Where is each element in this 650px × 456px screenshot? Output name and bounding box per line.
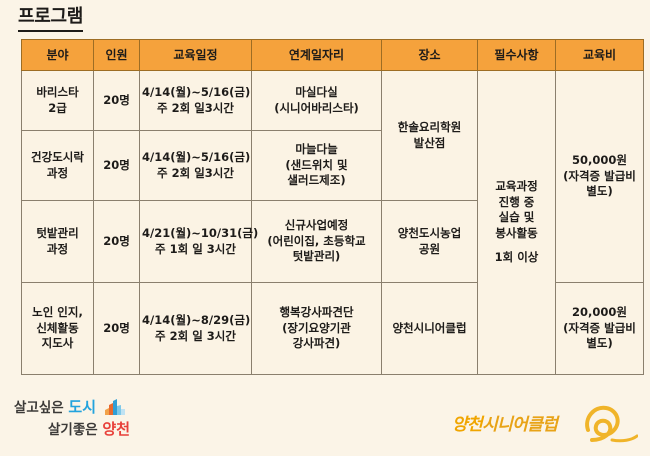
job-line-1: 행복강사파견단	[254, 305, 379, 321]
logo-left-line-1: 살고싶은 도시	[14, 398, 130, 420]
field-line-1: 건강도시락	[24, 150, 91, 166]
table-row: 바리스타 2급 20명 4/14(월)~5/16(금) 주 2회 일3시간 마실…	[22, 71, 644, 131]
requirement-line-4: 봉사활동	[480, 226, 553, 242]
schedule-line-2: 주 2회 일3시간	[142, 166, 249, 182]
cell-field: 노인 인지, 신체활동 지도사	[22, 283, 94, 375]
schedule-line-1: 4/21(월)~10/31(금)	[142, 226, 249, 242]
yangcheon-city-logo: 살고싶은 도시 살기좋은 양천	[14, 398, 130, 439]
column-header-requirement: 필수사항	[478, 40, 556, 71]
job-line-2: (샌드위치 및	[254, 158, 379, 174]
footer: 살고싶은 도시 살기좋은 양천 양천시니어클럽	[0, 392, 650, 456]
job-line-3: 텃밭관리)	[254, 249, 379, 265]
field-line-2: 과정	[24, 242, 91, 258]
fee-line-3: 별도)	[558, 336, 641, 352]
place-line-1: 한솔요리학원	[384, 120, 475, 136]
requirement-spacer	[480, 241, 553, 250]
cell-linked-job: 마늘다늘 (샌드위치 및 샐러드제조)	[252, 131, 382, 201]
cell-field: 텃밭관리 과정	[22, 201, 94, 283]
fee-line-1: 50,000원	[558, 153, 641, 169]
logo-right-brand: 양천시니어클럽	[452, 410, 557, 435]
table-header-row: 분야 인원 교육일정 연계일자리 장소 필수사항 교육비	[22, 40, 644, 71]
page-title: 프로그램	[18, 6, 83, 32]
table-header: 분야 인원 교육일정 연계일자리 장소 필수사항 교육비	[22, 40, 644, 71]
schedule-line-2: 주 1회 일 3시간	[142, 242, 249, 258]
column-header-count: 인원	[94, 40, 140, 71]
cell-schedule: 4/14(월)~5/16(금) 주 2회 일3시간	[140, 131, 252, 201]
cell-count: 20명	[94, 283, 140, 375]
logo-right-text-a: 양천	[452, 415, 482, 435]
requirement-line-5: 1회 이상	[480, 250, 553, 266]
yangcheon-senior-club-logo: 양천시니어클럽	[452, 400, 638, 446]
field-line-2: 과정	[24, 166, 91, 182]
cell-schedule: 4/14(월)~5/16(금) 주 2회 일3시간	[140, 71, 252, 131]
column-header-place: 장소	[382, 40, 478, 71]
schedule-line-1: 4/14(월)~5/16(금)	[142, 150, 249, 166]
job-line-2: (장기요양기관	[254, 321, 379, 337]
program-table-wrap: 분야 인원 교육일정 연계일자리 장소 필수사항 교육비 바리스타 2급 20명	[21, 39, 629, 375]
requirement-line-2: 진행 중	[480, 195, 553, 211]
logo-left-text-c: 살기좋은	[48, 422, 98, 438]
requirement-line-1: 교육과정	[480, 179, 553, 195]
requirement-line-3: 실습 및	[480, 210, 553, 226]
building-skyline-icon	[104, 399, 126, 420]
job-line-2: (시니어바리스타)	[254, 101, 379, 117]
cell-linked-job: 행복강사파견단 (장기요양기관 강사파견)	[252, 283, 382, 375]
fee-line-2: (자격증 발급비	[558, 321, 641, 337]
cell-linked-job: 마실다실 (시니어바리스타)	[252, 71, 382, 131]
place-line-2: 공원	[384, 242, 475, 258]
column-header-linked-job: 연계일자리	[252, 40, 382, 71]
logo-left-text-a: 살고싶은	[14, 400, 64, 416]
job-line-1: 마늘다늘	[254, 142, 379, 158]
job-line-3: 샐러드제조)	[254, 173, 379, 189]
cell-schedule: 4/21(월)~10/31(금) 주 1회 일 3시간	[140, 201, 252, 283]
field-line-1: 텃밭관리	[24, 226, 91, 242]
page-title-wrap: 프로그램	[18, 6, 83, 32]
cell-count: 20명	[94, 71, 140, 131]
schedule-line-2: 주 2회 일3시간	[142, 101, 249, 117]
field-line-2: 2급	[24, 101, 91, 117]
cell-requirement-merged: 교육과정 진행 중 실습 및 봉사활동 1회 이상	[478, 71, 556, 375]
cell-place-merged-1-2: 한솔요리학원 발산점	[382, 71, 478, 201]
cell-count: 20명	[94, 131, 140, 201]
program-table: 분야 인원 교육일정 연계일자리 장소 필수사항 교육비 바리스타 2급 20명	[21, 39, 644, 375]
cell-count: 20명	[94, 201, 140, 283]
column-header-fee: 교육비	[556, 40, 644, 71]
cell-field: 바리스타 2급	[22, 71, 94, 131]
place-line-1: 양천시니어클럽	[384, 321, 475, 337]
field-line-3: 지도사	[24, 336, 91, 352]
cell-place: 양천시니어클럽	[382, 283, 478, 375]
schedule-line-1: 4/14(월)~8/29(금)	[142, 313, 249, 329]
cell-schedule: 4/14(월)~8/29(금) 주 2회 일 3시간	[140, 283, 252, 375]
column-header-schedule: 교육일정	[140, 40, 252, 71]
swirl-ribbon-icon	[582, 400, 638, 450]
job-line-1: 마실다실	[254, 85, 379, 101]
program-poster: 프로그램 분야 인원 교육일정 연계일자리 장소 필수사항 교육비	[0, 0, 650, 456]
place-line-1: 양천도시농업	[384, 226, 475, 242]
table-body: 바리스타 2급 20명 4/14(월)~5/16(금) 주 2회 일3시간 마실…	[22, 71, 644, 375]
field-line-2: 신체활동	[24, 321, 91, 337]
cell-linked-job: 신규사업예정 (어린이집, 초등학교 텃밭관리)	[252, 201, 382, 283]
job-line-2: (어린이집, 초등학교	[254, 234, 379, 250]
fee-line-3: 별도)	[558, 184, 641, 200]
schedule-line-1: 4/14(월)~5/16(금)	[142, 85, 249, 101]
cell-field: 건강도시락 과정	[22, 131, 94, 201]
logo-right-text-b: 시니어클럽	[482, 415, 557, 435]
logo-left-text-d: 양천	[102, 420, 130, 438]
logo-left-text-b: 도시	[68, 398, 96, 416]
logo-left-line-2: 살기좋은 양천	[14, 420, 130, 439]
place-line-2: 발산점	[384, 136, 475, 152]
job-line-1: 신규사업예정	[254, 218, 379, 234]
fee-line-2: (자격증 발급비	[558, 169, 641, 185]
job-line-3: 강사파견)	[254, 336, 379, 352]
cell-fee-merged-1-3: 50,000원 (자격증 발급비 별도)	[556, 71, 644, 283]
field-line-1: 노인 인지,	[24, 305, 91, 321]
cell-fee: 20,000원 (자격증 발급비 별도)	[556, 283, 644, 375]
fee-line-1: 20,000원	[558, 305, 641, 321]
schedule-line-2: 주 2회 일 3시간	[142, 329, 249, 345]
column-header-field: 분야	[22, 40, 94, 71]
cell-place: 양천도시농업 공원	[382, 201, 478, 283]
field-line-1: 바리스타	[24, 85, 91, 101]
